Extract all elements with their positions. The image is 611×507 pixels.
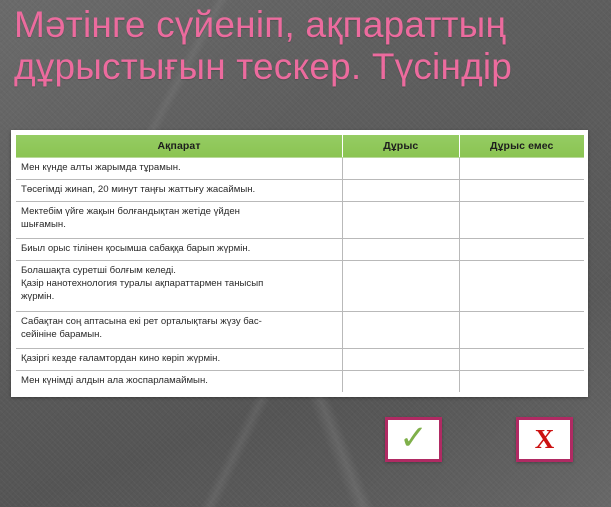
statement-line: Қазір нанотехнология туралы ақпараттарме… bbox=[21, 277, 338, 290]
true-cell[interactable] bbox=[343, 238, 459, 260]
statement-line: Қазіргі кезде ғаламтордан кино көріп жүр… bbox=[21, 352, 338, 365]
false-cell[interactable] bbox=[459, 370, 584, 392]
statement-line: шығамын. bbox=[21, 218, 338, 231]
correct-answer-button[interactable]: ✓ bbox=[385, 417, 442, 462]
page-title: Мәтінге сүйеніп, ақпараттың дұрыстығын т… bbox=[14, 4, 609, 88]
table-row: Сабақтан соң аптасына екі рет орталықтағ… bbox=[16, 312, 584, 349]
true-cell[interactable] bbox=[343, 158, 459, 180]
true-cell[interactable] bbox=[343, 370, 459, 392]
information-table-frame: Ақпарат Дұрыс Дұрыс емес Мен күнде алты … bbox=[11, 130, 588, 397]
table-header: Ақпарат Дұрыс Дұрыс емес bbox=[16, 135, 584, 158]
statement-cell: Мектебім үйге жақын болғандықтан жетіде … bbox=[16, 202, 343, 239]
statement-line: Мен күнде алты жарымда тұрамын. bbox=[21, 161, 338, 174]
column-header-true: Дұрыс bbox=[343, 135, 459, 158]
false-cell[interactable] bbox=[459, 180, 584, 202]
statement-line: Биыл орыс тілінен қосымша сабаққа барып … bbox=[21, 242, 338, 255]
table-row: Төсегімді жинап, 20 минут таңғы жаттығу … bbox=[16, 180, 584, 202]
table-row: Мектебім үйге жақын болғандықтан жетіде … bbox=[16, 202, 584, 239]
statement-cell: Болашақта суретші болғым келеді. Қазір н… bbox=[16, 261, 343, 312]
statement-cell: Мен күнімді алдын ала жоспарламаймын. bbox=[16, 370, 343, 392]
true-cell[interactable] bbox=[343, 348, 459, 370]
information-table: Ақпарат Дұрыс Дұрыс емес Мен күнде алты … bbox=[16, 135, 584, 392]
true-cell[interactable] bbox=[343, 312, 459, 349]
false-cell[interactable] bbox=[459, 202, 584, 239]
statement-line: Сабақтан соң аптасына екі рет орталықтағ… bbox=[21, 315, 338, 328]
slide-canvas: Мәтінге сүйеніп, ақпараттың дұрыстығын т… bbox=[0, 0, 611, 507]
check-icon: ✓ bbox=[399, 421, 428, 455]
statement-line: жүрмін. bbox=[21, 290, 338, 303]
page-title-line-1: Мәтінге сүйеніп, ақпараттың bbox=[14, 4, 609, 46]
statement-cell: Мен күнде алты жарымда тұрамын. bbox=[16, 158, 343, 180]
table-row: Биыл орыс тілінен қосымша сабаққа барып … bbox=[16, 238, 584, 260]
statement-cell: Қазіргі кезде ғаламтордан кино көріп жүр… bbox=[16, 348, 343, 370]
table-header-row: Ақпарат Дұрыс Дұрыс емес bbox=[16, 135, 584, 158]
statement-line: Мектебім үйге жақын болғандықтан жетіде … bbox=[21, 205, 338, 218]
false-cell[interactable] bbox=[459, 238, 584, 260]
false-cell[interactable] bbox=[459, 261, 584, 312]
statement-cell: Төсегімді жинап, 20 минут таңғы жаттығу … bbox=[16, 180, 343, 202]
column-header-false: Дұрыс емес bbox=[459, 135, 584, 158]
table-row: Мен күнімді алдын ала жоспарламаймын. bbox=[16, 370, 584, 392]
false-cell[interactable] bbox=[459, 348, 584, 370]
table-row: Болашақта суретші болғым келеді. Қазір н… bbox=[16, 261, 584, 312]
table-body: Мен күнде алты жарымда тұрамын. Төсегімд… bbox=[16, 158, 584, 393]
statement-line: Мен күнімді алдын ала жоспарламаймын. bbox=[21, 374, 338, 387]
column-header-info: Ақпарат bbox=[16, 135, 343, 158]
true-cell[interactable] bbox=[343, 202, 459, 239]
statement-cell: Биыл орыс тілінен қосымша сабаққа барып … bbox=[16, 238, 343, 260]
table-row: Мен күнде алты жарымда тұрамын. bbox=[16, 158, 584, 180]
page-title-line-2: дұрыстығын тескер. Түсіндір bbox=[14, 46, 609, 88]
statement-cell: Сабақтан соң аптасына екі рет орталықтағ… bbox=[16, 312, 343, 349]
statement-line: сейініне барамын. bbox=[21, 328, 338, 341]
cross-icon: X bbox=[535, 426, 555, 453]
false-cell[interactable] bbox=[459, 158, 584, 180]
wrong-answer-button[interactable]: X bbox=[516, 417, 573, 462]
statement-line: Төсегімді жинап, 20 минут таңғы жаттығу … bbox=[21, 183, 338, 196]
statement-line: Болашақта суретші болғым келеді. bbox=[21, 264, 338, 277]
false-cell[interactable] bbox=[459, 312, 584, 349]
true-cell[interactable] bbox=[343, 180, 459, 202]
true-cell[interactable] bbox=[343, 261, 459, 312]
table-row: Қазіргі кезде ғаламтордан кино көріп жүр… bbox=[16, 348, 584, 370]
